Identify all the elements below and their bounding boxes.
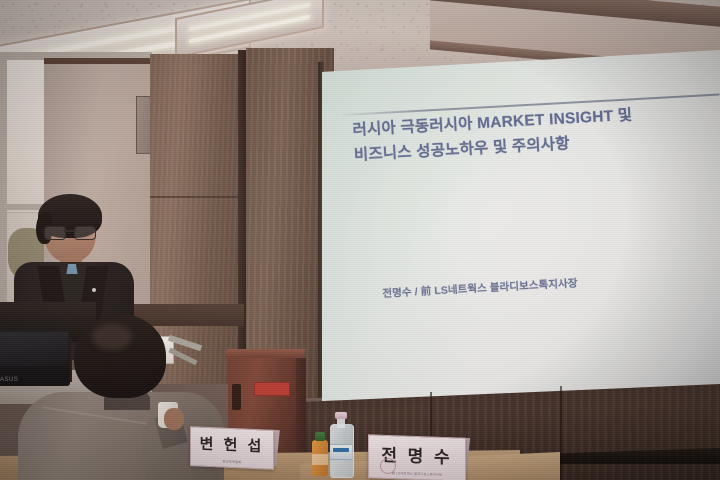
water-bottle-label-band (333, 448, 349, 452)
lapel-pin (92, 288, 96, 292)
hair-highlight (92, 324, 132, 350)
placard-name: 변 헌 섭 (191, 432, 273, 457)
glasses-bridge (64, 230, 76, 232)
lectern-side-panel (296, 358, 306, 454)
conference-room-photo: 러시아 극동러시아 MARKET INSIGHT 및 비즈니스 성공노하우 및 … (0, 0, 720, 480)
name-placard-right: 전 명 수 前 LS네트웍스 블라디보스톡지사장 (368, 434, 466, 480)
lectern-label (254, 382, 290, 396)
glasses-lens (74, 226, 96, 240)
placard-subtitle: 한국무역협회 (191, 457, 273, 466)
projection-screen: 러시아 극동러시아 MARKET INSIGHT 및 비즈니스 성공노하우 및 … (322, 50, 720, 442)
water-bottle-label (330, 444, 352, 460)
attendee-hand (164, 408, 184, 430)
presenter-glasses (44, 226, 96, 238)
placard-seal (380, 458, 396, 474)
name-placard-left: 변 헌 섭 한국무역협회 (190, 426, 274, 470)
monitor-brand-label: ASUS (0, 377, 18, 383)
juice-bottle-label (312, 454, 328, 465)
juice-bottle-cap (315, 432, 325, 441)
juice-bottle (312, 432, 328, 476)
water-bottle-cap (335, 412, 347, 419)
lectern-slot (232, 384, 241, 410)
water-bottle (330, 412, 352, 476)
wood-panel-seam (560, 386, 562, 480)
wood-panel-seam (150, 196, 242, 198)
glasses-lens (44, 226, 66, 240)
lectern-top-surface (225, 349, 306, 358)
